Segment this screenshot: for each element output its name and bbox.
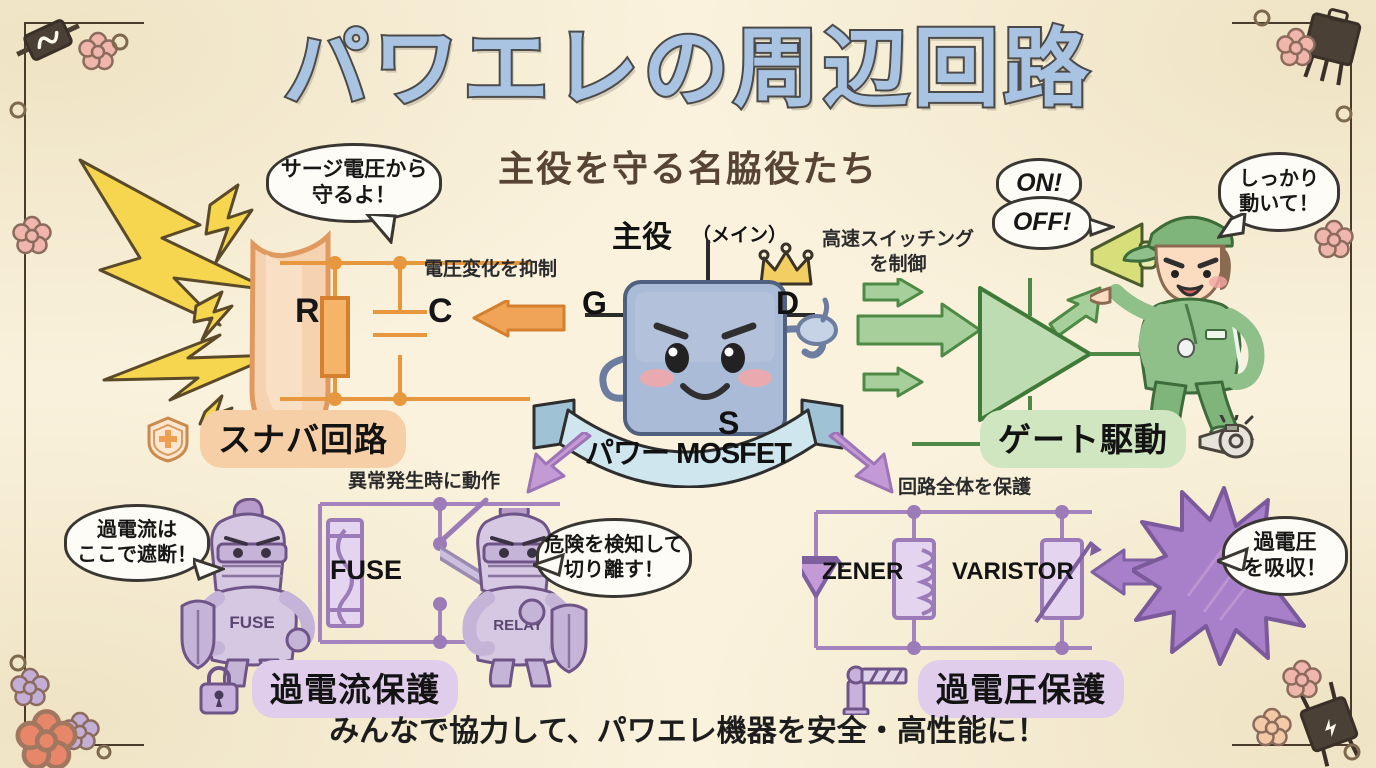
- circuit-label-fuse: FUSE: [330, 555, 402, 586]
- pointing-hand: [798, 316, 836, 344]
- gate-drive-note: 高速スイッチング を制御: [822, 228, 974, 277]
- sword-hand: [520, 600, 544, 624]
- overvoltage-note: 回路全体を保護: [898, 476, 1031, 501]
- terminal-label-d: D: [776, 285, 799, 322]
- section-label-gate-drive: ゲート駆動: [980, 410, 1186, 468]
- whistle-pendant: [1178, 339, 1194, 357]
- signal-bubble-off: OFF!: [992, 196, 1092, 250]
- resistor-symbol: [322, 298, 348, 376]
- overcurrent-speech-bubble-right: 危険を検知して 切り離す！: [536, 518, 692, 598]
- section-badge-snubber: スナバ回路: [146, 410, 406, 468]
- overcurrent-note: 異常発生時に動作: [348, 470, 500, 495]
- terminal-label-g: G: [582, 285, 607, 322]
- snubber-speech-bubble: サージ電圧から 守るよ！: [266, 143, 442, 223]
- svg-text:FUSE: FUSE: [229, 613, 274, 632]
- crown-icon: [760, 244, 812, 284]
- snubber-note: 電圧変化を抑制: [424, 258, 557, 283]
- footer-text: みんなで協力して、パワエレ機器を安全・高性能に！: [0, 706, 1376, 750]
- pointing-hand: [1090, 288, 1110, 303]
- lightning-bolt-icon: [80, 160, 275, 442]
- snubber-arrow-icon: [468, 300, 568, 340]
- component-label-c: C: [428, 292, 453, 331]
- overcurrent-speech-bubble-left: 過電流は ここで遮断！: [64, 504, 210, 582]
- name-tag: [1206, 330, 1226, 339]
- section-label-snubber: スナバ回路: [200, 410, 406, 468]
- poster-canvas: パワエレの周辺回路 主役を守る名脇役たち R C: [0, 0, 1376, 768]
- page-title: パワエレの周辺回路: [0, 24, 1376, 114]
- overvoltage-speech-bubble: 過電圧 を吸収！: [1222, 516, 1348, 596]
- component-label-r: R: [295, 292, 320, 331]
- whistle-icon: [1196, 415, 1256, 463]
- component-label-varistor: VARISTOR: [952, 558, 1074, 586]
- section-badge-gate-drive: ゲート駆動: [980, 410, 1256, 468]
- gate-drive-speech-bubble: しっかり 動いて！: [1218, 152, 1340, 232]
- component-label-zener: ZENER: [822, 558, 903, 586]
- shield-plus-icon: [146, 415, 190, 463]
